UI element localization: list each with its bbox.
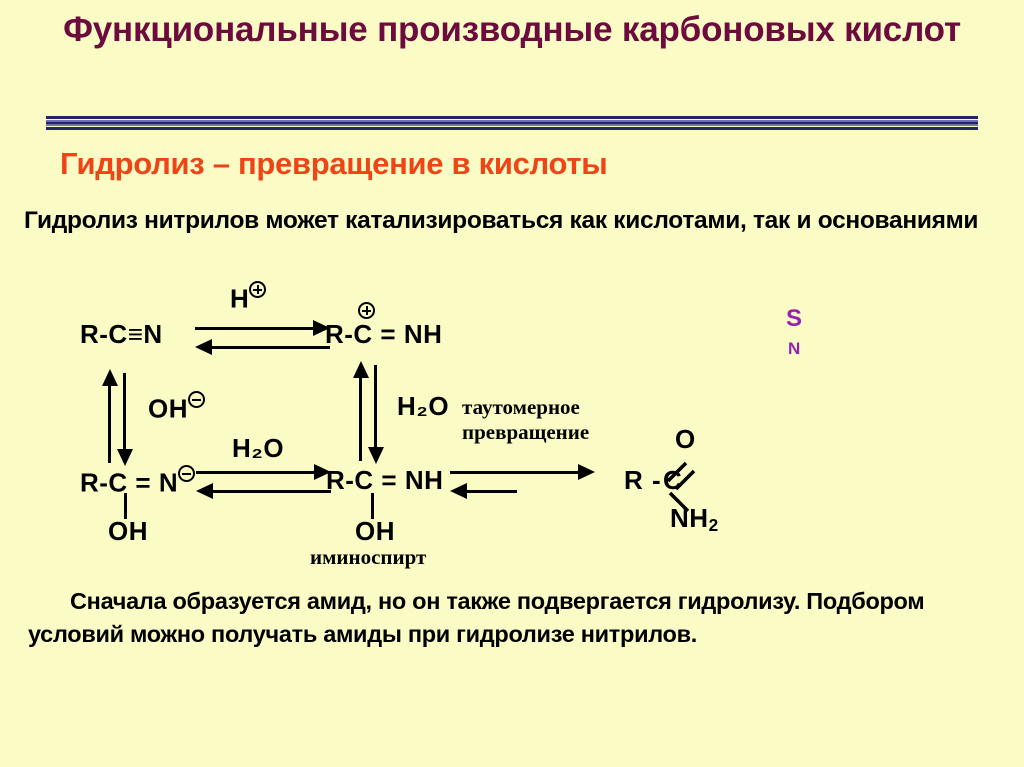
imino-alcohol-hydroxy: OH: [355, 516, 395, 547]
divider-line-core: [46, 122, 978, 124]
hydroxide-label: OH: [148, 394, 188, 424]
water-reagent-middle: H₂O: [232, 433, 284, 464]
sn-label-n: N: [788, 339, 800, 359]
plus-charge-icon: [358, 302, 375, 319]
arrow-shaft-reverse: [465, 490, 517, 493]
iminium-structure: R-C = NH: [325, 319, 442, 350]
reaction-scheme: R-C≡N H R-C = NH OH: [0, 255, 1024, 585]
arrow-head-down: [117, 449, 133, 466]
tautomer-label-line2: превращение: [462, 420, 589, 445]
arrow-shaft-forward: [196, 471, 316, 474]
anion-hydroxy-substituent: OH: [108, 516, 148, 547]
carbonyl-double-bond-line-1: [668, 463, 686, 481]
water-reagent-vertical: H₂O: [397, 391, 449, 422]
equilibrium-arrow-left-vertical: [106, 373, 136, 465]
arrow-head-forward: [578, 464, 595, 480]
arrow-shaft-down: [123, 373, 126, 453]
equilibrium-arrow-top: [195, 325, 330, 357]
top-arrow-reagent: H: [230, 281, 266, 315]
arrow-head-up: [102, 369, 118, 386]
equilibrium-arrow-middle: [196, 469, 331, 501]
page-title: Функциональные производные карбоновых ки…: [60, 6, 964, 54]
arrow-shaft-reverse: [211, 490, 331, 493]
hydroxide-reagent: OH: [148, 391, 205, 425]
arrow-shaft-down: [374, 365, 377, 451]
plus-charge-icon: [249, 281, 266, 298]
anion-formula: R-C = N: [80, 468, 178, 498]
arrow-shaft-reverse: [210, 346, 330, 349]
equilibrium-arrow-to-amide: [450, 469, 595, 501]
amide-bonds: [612, 415, 752, 545]
arrow-head-reverse: [196, 483, 213, 499]
arrow-shaft-forward: [195, 327, 315, 330]
arrow-shaft-up: [108, 383, 111, 463]
arrow-head-reverse: [450, 483, 467, 499]
closing-line-1: Сначала образуется амид, но он также под…: [28, 588, 800, 614]
arrow-shaft-up: [359, 375, 362, 461]
imino-alcohol-structure: R-C = NH: [326, 465, 443, 496]
iminium-formula: R-C = NH: [325, 319, 442, 349]
minus-charge-icon: [178, 465, 195, 482]
title-divider: [46, 116, 978, 130]
c-n-single-bond: [670, 493, 688, 511]
water-label: H₂O: [397, 391, 449, 421]
divider-line-top: [46, 116, 978, 119]
imino-alcohol-caption: иминоспирт: [310, 545, 426, 570]
water-label: H₂O: [232, 433, 284, 463]
nitrile-formula: R-C≡N: [80, 319, 163, 349]
sn-label-s: S: [786, 305, 802, 333]
arrow-shaft-forward: [450, 471, 580, 474]
arrow-head-down: [368, 447, 384, 464]
section-subtitle: Гидролиз – превращение в кислоты: [60, 146, 960, 182]
slide-canvas: Функциональные производные карбоновых ки…: [0, 0, 1024, 767]
carbonyl-double-bond-line-2: [676, 471, 694, 489]
nitrile-structure: R-C≡N: [80, 319, 163, 350]
imino-alcohol-formula: R-C = NH: [326, 465, 443, 495]
sn-mechanism-label: S N: [786, 305, 826, 365]
arrow-head-reverse: [195, 339, 212, 355]
closing-paragraph: Сначала образуется амид, но он также под…: [28, 585, 1003, 651]
arrow-head-up: [353, 361, 369, 378]
reagent-h-label: H: [230, 284, 249, 314]
divider-line-bottom: [46, 127, 978, 130]
tautomer-label-line1: таутомерное: [462, 395, 589, 420]
anion-structure: R-C = N: [80, 465, 195, 499]
equilibrium-arrow-right-vertical: [357, 365, 387, 465]
tautomer-transformation-label: таутомерное превращение: [462, 395, 589, 445]
intro-paragraph: Гидролиз нитрилов может катализироваться…: [24, 203, 999, 238]
minus-charge-icon: [188, 391, 205, 408]
